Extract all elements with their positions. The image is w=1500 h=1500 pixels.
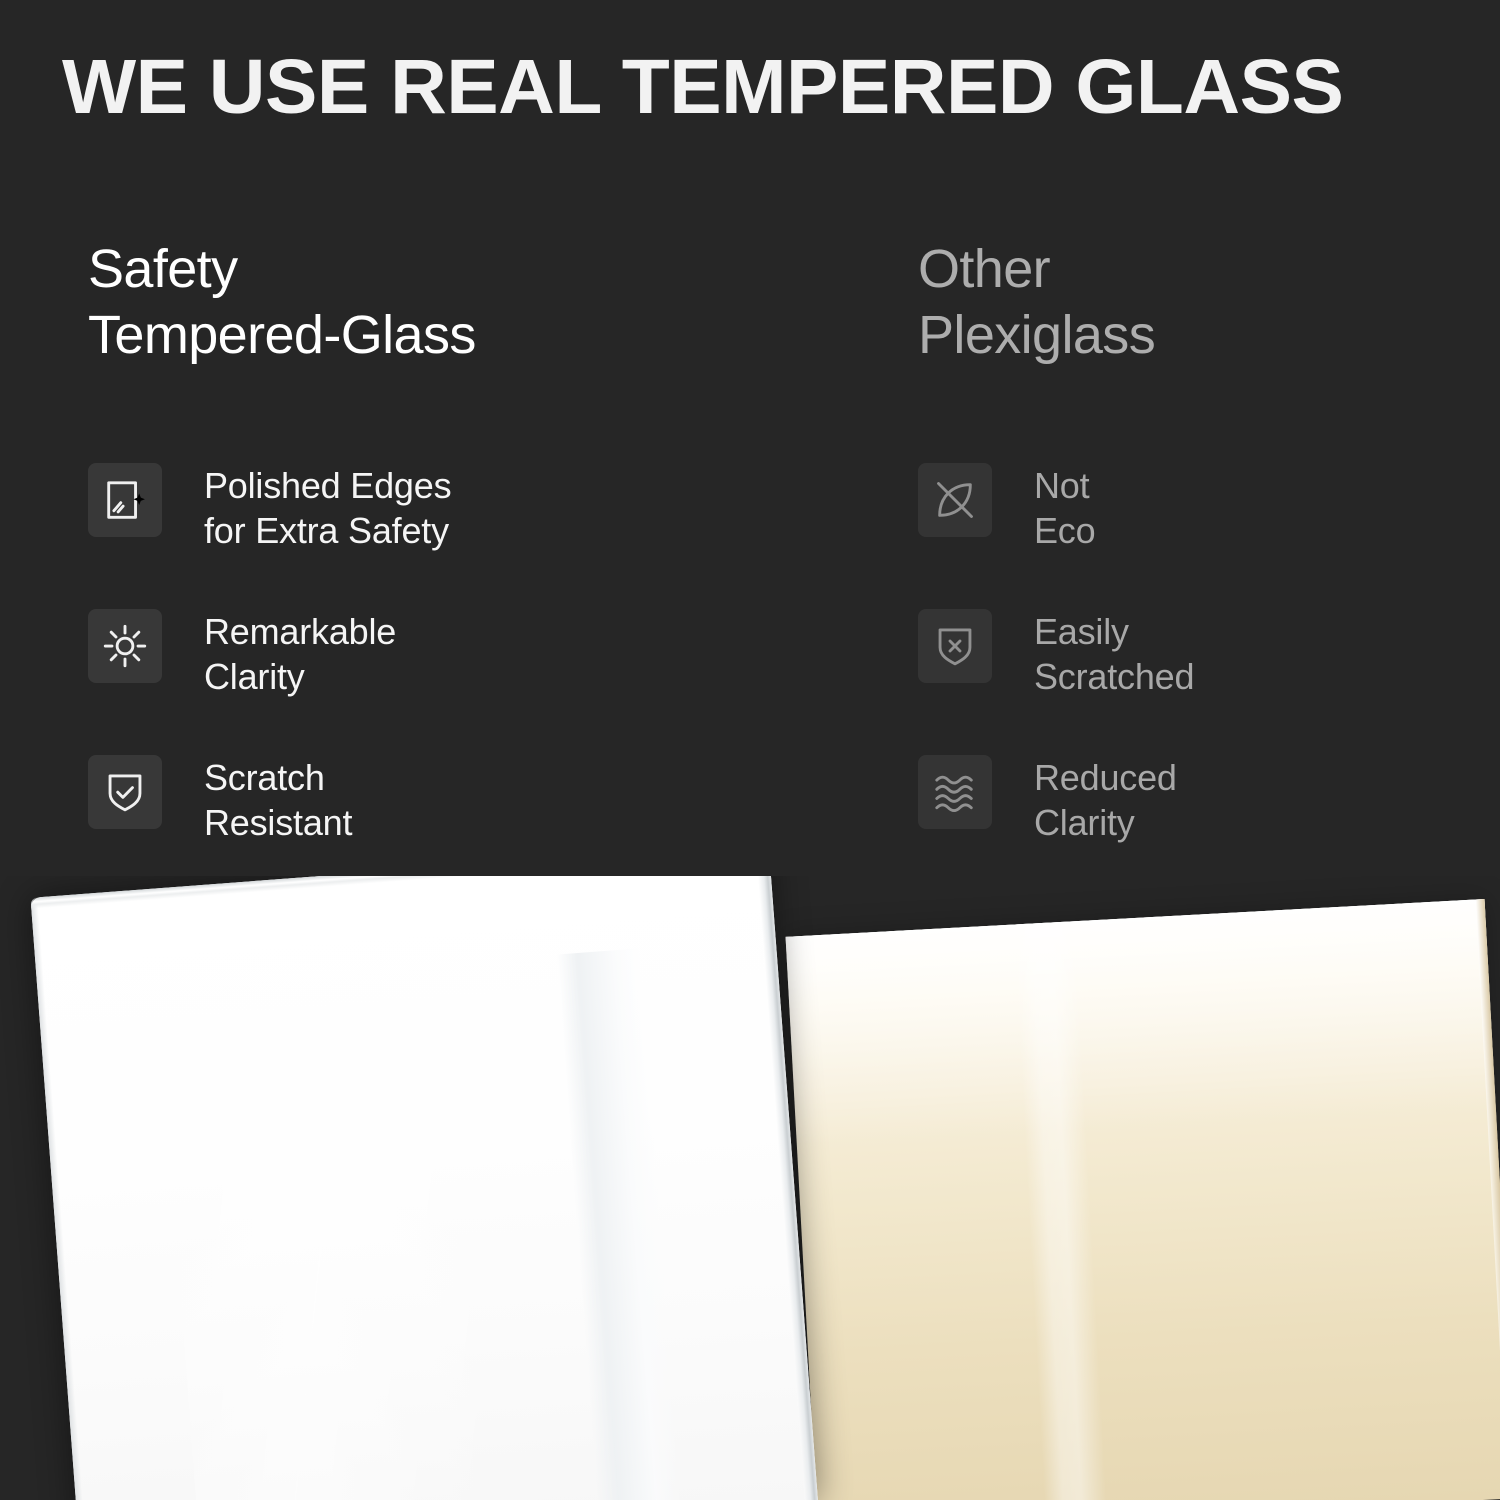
column-other-plexiglass: Other Plexiglass Not Eco [918, 236, 1478, 898]
leaf-crossed-out-icon [918, 463, 992, 537]
sun-brightness-icon [88, 609, 162, 683]
feature-item: Remarkable Clarity [88, 606, 848, 752]
column-heading-plexiglass: Other Plexiglass [918, 236, 1478, 368]
glass-reflection-band [556, 948, 689, 1500]
polished-glass-pane-icon [88, 463, 162, 537]
tempered-glass-panel [31, 876, 818, 1500]
feature-label: Remarkable Clarity [204, 606, 396, 699]
comparison-infographic: WE USE REAL TEMPERED GLASS Safety Temper… [0, 0, 1500, 1500]
feature-item: Easily Scratched [918, 606, 1478, 752]
feature-item: Polished Edges for Extra Safety [88, 460, 848, 606]
shield-check-icon [88, 755, 162, 829]
glass-soft-reflection [150, 876, 499, 1500]
feature-label: Not Eco [1034, 460, 1095, 553]
column-safety-tempered-glass: Safety Tempered-Glass Polished Edges for… [88, 236, 848, 898]
feature-label: Scratch Resistant [204, 752, 352, 845]
shield-x-icon [918, 609, 992, 683]
feature-item: Not Eco [918, 460, 1478, 606]
feature-label: Polished Edges for Extra Safety [204, 460, 451, 553]
wavy-lines-icon [918, 755, 992, 829]
plexiglass-panel [786, 899, 1500, 1500]
glass-panels-image [0, 876, 1500, 1500]
column-heading-tempered-glass: Safety Tempered-Glass [88, 236, 848, 368]
page-title: WE USE REAL TEMPERED GLASS [62, 44, 1480, 130]
comparison-columns: Safety Tempered-Glass Polished Edges for… [0, 236, 1500, 876]
feature-list-plexiglass: Not Eco Easily Scratched [918, 460, 1478, 898]
feature-label: Easily Scratched [1034, 606, 1194, 699]
feature-list-tempered-glass: Polished Edges for Extra Safety Remarkab… [88, 460, 848, 898]
feature-label: Reduced Clarity [1034, 752, 1177, 845]
glass-left-edge [31, 897, 87, 1500]
